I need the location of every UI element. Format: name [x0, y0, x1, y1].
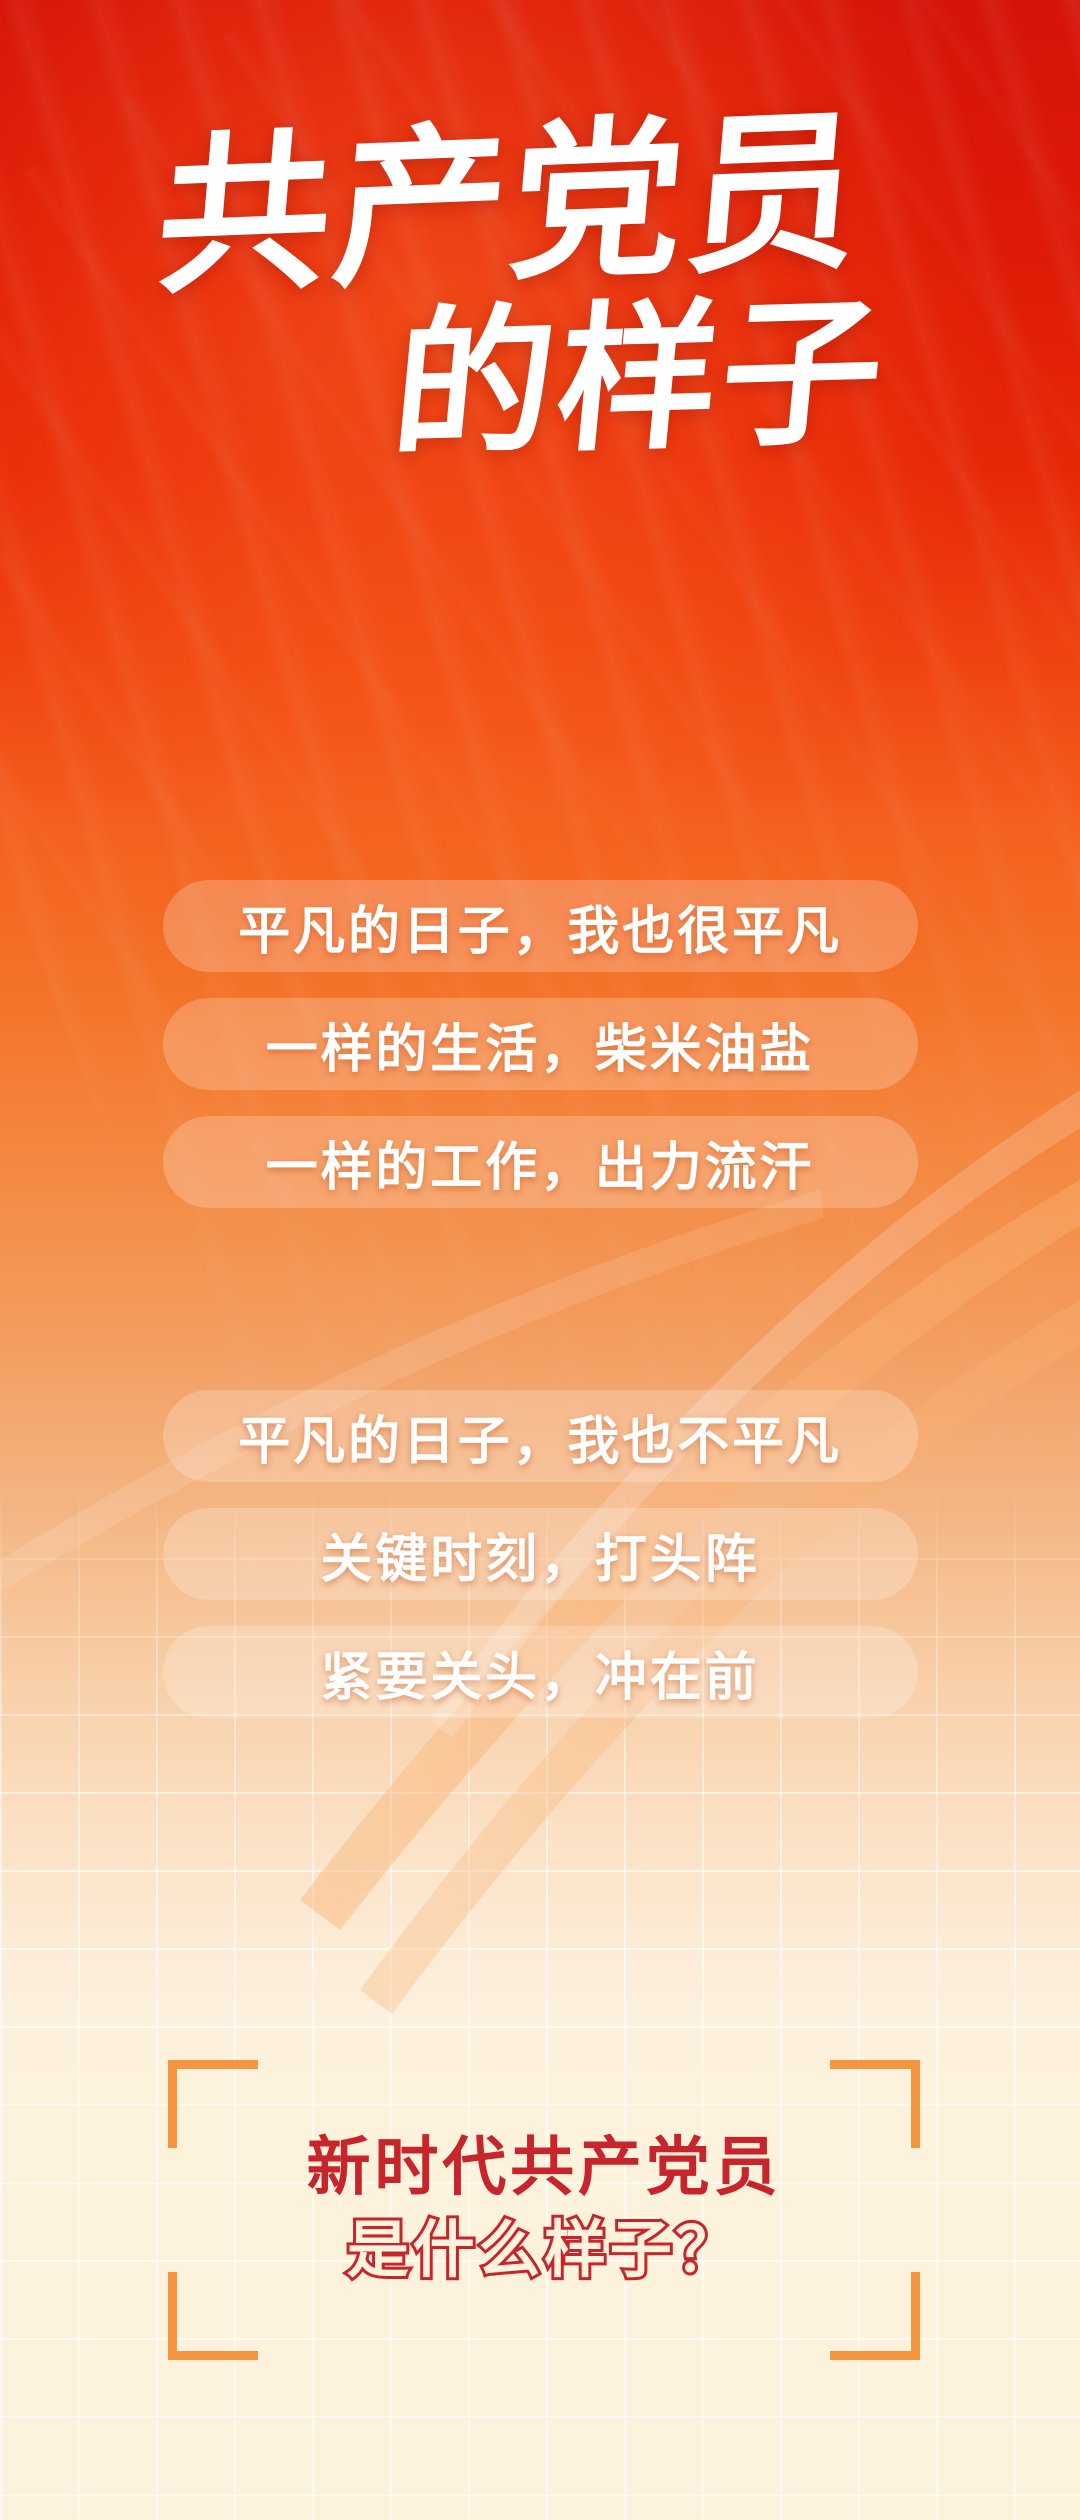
- statement-pill[interactable]: 平凡的日子，我也很平凡: [163, 880, 918, 972]
- bottom-line-1: 新时代共产党员: [168, 2132, 920, 2204]
- bottom-question-block: 新时代共产党员 是什么样子？: [168, 2060, 920, 2360]
- poster-title: 共产党员 的样子: [0, 118, 1080, 458]
- statement-group-extraordinary: 平凡的日子，我也不平凡 关键时刻，打头阵 紧要关头，冲在前: [0, 1390, 1080, 1744]
- statement-pill[interactable]: 紧要关头，冲在前: [163, 1626, 918, 1718]
- statement-pill-label: 关键时刻，打头阵: [321, 1517, 760, 1592]
- title-line-1: 共产党员: [151, 105, 870, 304]
- statement-pill[interactable]: 关键时刻，打头阵: [163, 1508, 918, 1600]
- statement-pill-label: 一样的工作，出力流汗: [266, 1125, 815, 1200]
- statement-pill-label: 紧要关头，冲在前: [321, 1635, 760, 1710]
- statement-pill[interactable]: 平凡的日子，我也不平凡: [163, 1390, 918, 1482]
- poster-root: 共产党员 的样子 平凡的日子，我也很平凡 一样的生活，柴米油盐 一样的工作，出力…: [0, 0, 1080, 2520]
- statement-group-ordinary: 平凡的日子，我也很平凡 一样的生活，柴米油盐 一样的工作，出力流汗: [0, 880, 1080, 1234]
- bottom-question-text: 新时代共产党员 是什么样子？: [168, 2132, 920, 2288]
- statement-pill[interactable]: 一样的工作，出力流汗: [163, 1116, 918, 1208]
- bottom-line-2: 是什么样子？: [168, 2214, 920, 2288]
- statement-pill-label: 平凡的日子，我也很平凡: [238, 889, 841, 964]
- statement-pill[interactable]: 一样的生活，柴米油盐: [163, 998, 918, 1090]
- title-line-2: 的样子: [387, 291, 893, 465]
- statement-pill-label: 一样的生活，柴米油盐: [266, 1007, 815, 1082]
- statement-pill-label: 平凡的日子，我也不平凡: [238, 1399, 841, 1474]
